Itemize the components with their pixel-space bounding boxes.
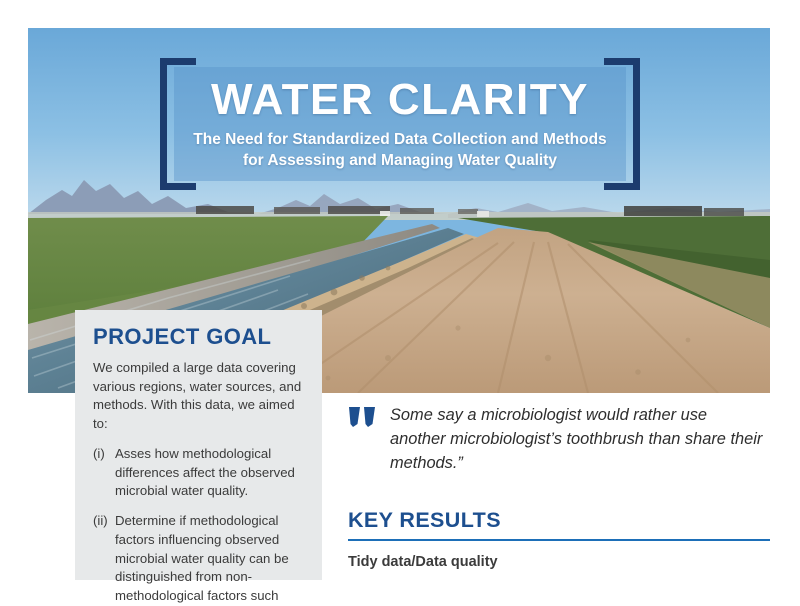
list-item: (i) Asses how methodological differences…: [93, 445, 304, 501]
project-goal-list: (i) Asses how methodological differences…: [93, 445, 304, 606]
page-title: WATER CLARITY: [160, 78, 640, 122]
key-results-subheading: Tidy data/Data quality: [348, 554, 770, 570]
project-goal-card: PROJECT GOAL We compiled a large data co…: [75, 310, 322, 580]
key-results-heading: KEY RESULTS: [348, 508, 770, 533]
project-goal-intro: We compiled a large data covering variou…: [93, 359, 304, 434]
page-subtitle-line-1: The Need for Standardized Data Collectio…: [172, 130, 628, 151]
list-item-marker: (ii): [93, 512, 115, 606]
list-item-text: Asses how methodological differences aff…: [115, 445, 304, 501]
pull-quote: Some say a microbiologist would rather u…: [348, 404, 766, 475]
page-subtitle-line-2: for Assessing and Managing Water Quality: [172, 151, 628, 172]
project-goal-heading: PROJECT GOAL: [93, 324, 304, 350]
list-item-marker: (i): [93, 445, 115, 501]
list-item-text: Determine if methodological factors infl…: [115, 512, 304, 606]
page-subtitle: The Need for Standardized Data Collectio…: [172, 130, 628, 172]
key-results-divider: [348, 539, 770, 541]
key-results-section: KEY RESULTS Tidy data/Data quality: [348, 508, 770, 570]
title-banner: WATER CLARITY The Need for Standardized …: [160, 58, 640, 190]
list-item: (ii) Determine if methodological factors…: [93, 512, 304, 606]
quotation-mark-icon: [348, 406, 378, 428]
pull-quote-text: Some say a microbiologist would rather u…: [390, 404, 766, 475]
